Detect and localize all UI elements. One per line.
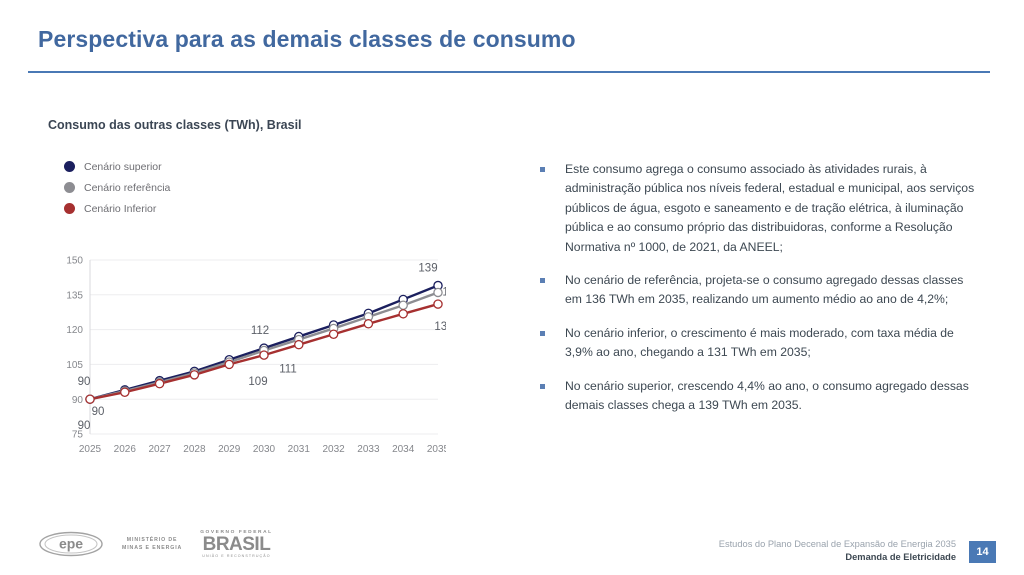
series-marker [330, 330, 338, 338]
y-axis-tick: 90 [72, 395, 84, 406]
y-axis-tick: 120 [66, 325, 83, 336]
y-axis-tick: 135 [66, 290, 83, 301]
x-axis-tick: 2034 [392, 444, 415, 455]
footer-section-title: Demanda de Eletricidade [719, 551, 956, 564]
x-axis-tick: 2029 [218, 444, 241, 455]
x-axis-tick: 2025 [79, 444, 102, 455]
data-point-label: 90 [92, 406, 105, 418]
data-point-label: 111 [279, 363, 296, 375]
list-item: No cenário inferior, o crescimento é mai… [540, 324, 980, 363]
list-item: No cenário superior, crescendo 4,4% ao a… [540, 377, 980, 416]
brasil-logo-main: BRASIL [200, 535, 273, 554]
brasil-logo: GOVERNO FEDERAL BRASIL UNIÃO E RECONSTRU… [200, 530, 273, 558]
footer-caption: Estudos do Plano Decenal de Expansão de … [719, 538, 956, 564]
list-item: Este consumo agrega o consumo associado … [540, 160, 980, 257]
data-point-label: 90 [78, 376, 91, 388]
ministry-logo: MINISTÉRIO DE MINAS E ENERGIA [122, 536, 182, 552]
chart-legend: Cenário superior Cenário referência Cená… [64, 156, 170, 219]
line-chart: 7590105120135150 20252026202720282029203… [46, 248, 446, 468]
data-point-label: 136 [442, 286, 446, 298]
y-axis-labels: 7590105120135150 [66, 256, 83, 441]
ministry-line2: MINAS E ENERGIA [122, 544, 182, 552]
series-marker [190, 371, 198, 379]
bullet-list: Este consumo agrega o consumo associado … [540, 160, 980, 429]
series-marker [121, 388, 129, 396]
line-chart-svg: 7590105120135150 20252026202720282029203… [46, 248, 446, 468]
x-axis-tick: 2032 [322, 444, 345, 455]
data-point-label: 90 [78, 420, 91, 432]
series-marker [364, 320, 372, 328]
bullet-square-icon [540, 384, 545, 389]
series-marker [295, 341, 303, 349]
series-marker [86, 395, 94, 403]
legend-swatch-superior [64, 161, 75, 172]
x-axis-labels: 2025202620272028202920302031203220332034… [79, 444, 446, 455]
legend-label-inferior: Cenário Inferior [84, 203, 156, 215]
x-axis-tick: 2035 [427, 444, 446, 455]
legend-label-superior: Cenário superior [84, 161, 162, 173]
x-axis-tick: 2027 [148, 444, 171, 455]
list-item: No cenário de referência, projeta-se o c… [540, 271, 980, 310]
page-number-badge: 14 [969, 541, 996, 563]
x-axis-tick: 2028 [183, 444, 206, 455]
bullet-text: No cenário superior, crescendo 4,4% ao a… [565, 377, 980, 416]
legend-label-referencia: Cenário referência [84, 182, 170, 194]
footer-study-title: Estudos do Plano Decenal de Expansão de … [719, 538, 956, 551]
brasil-logo-sub: UNIÃO E RECONSTRUÇÃO [200, 554, 273, 558]
bullet-square-icon [540, 278, 545, 283]
x-axis-tick: 2033 [357, 444, 380, 455]
data-point-label: 112 [251, 325, 269, 337]
epe-logo-icon: epe [38, 531, 104, 557]
bullet-square-icon [540, 167, 545, 172]
footer-logos: epe MINISTÉRIO DE MINAS E ENERGIA GOVERN… [38, 530, 273, 558]
ministry-line1: MINISTÉRIO DE [122, 536, 182, 544]
legend-swatch-inferior [64, 203, 75, 214]
data-point-label: 139 [418, 263, 437, 275]
x-axis-tick: 2031 [288, 444, 311, 455]
title-divider [28, 71, 990, 73]
legend-item-referencia: Cenário referência [64, 177, 170, 198]
bullet-square-icon [540, 331, 545, 336]
series-marker [434, 288, 442, 296]
y-axis-tick: 105 [66, 360, 83, 371]
legend-item-inferior: Cenário Inferior [64, 198, 170, 219]
series-marker [399, 310, 407, 318]
epe-logo-text: epe [59, 536, 83, 552]
page-title: Perspectiva para as demais classes de co… [38, 26, 576, 53]
bullet-text: No cenário de referência, projeta-se o c… [565, 271, 980, 310]
series-marker [225, 360, 233, 368]
x-axis-tick: 2026 [114, 444, 137, 455]
legend-swatch-referencia [64, 182, 75, 193]
y-axis-tick: 150 [66, 256, 83, 267]
bullet-text: Este consumo agrega o consumo associado … [565, 160, 980, 257]
data-point-label: 109 [248, 376, 267, 388]
series-marker [156, 380, 164, 388]
series-marker [434, 300, 442, 308]
data-point-label: 131 [434, 321, 446, 333]
series-marker [260, 351, 268, 359]
bullet-text: No cenário inferior, o crescimento é mai… [565, 324, 980, 363]
series-marker [399, 301, 407, 309]
chart-title: Consumo das outras classes (TWh), Brasil [48, 118, 302, 132]
legend-item-superior: Cenário superior [64, 156, 170, 177]
chart-panel: Consumo das outras classes (TWh), Brasil… [46, 118, 506, 468]
x-axis-tick: 2030 [253, 444, 276, 455]
